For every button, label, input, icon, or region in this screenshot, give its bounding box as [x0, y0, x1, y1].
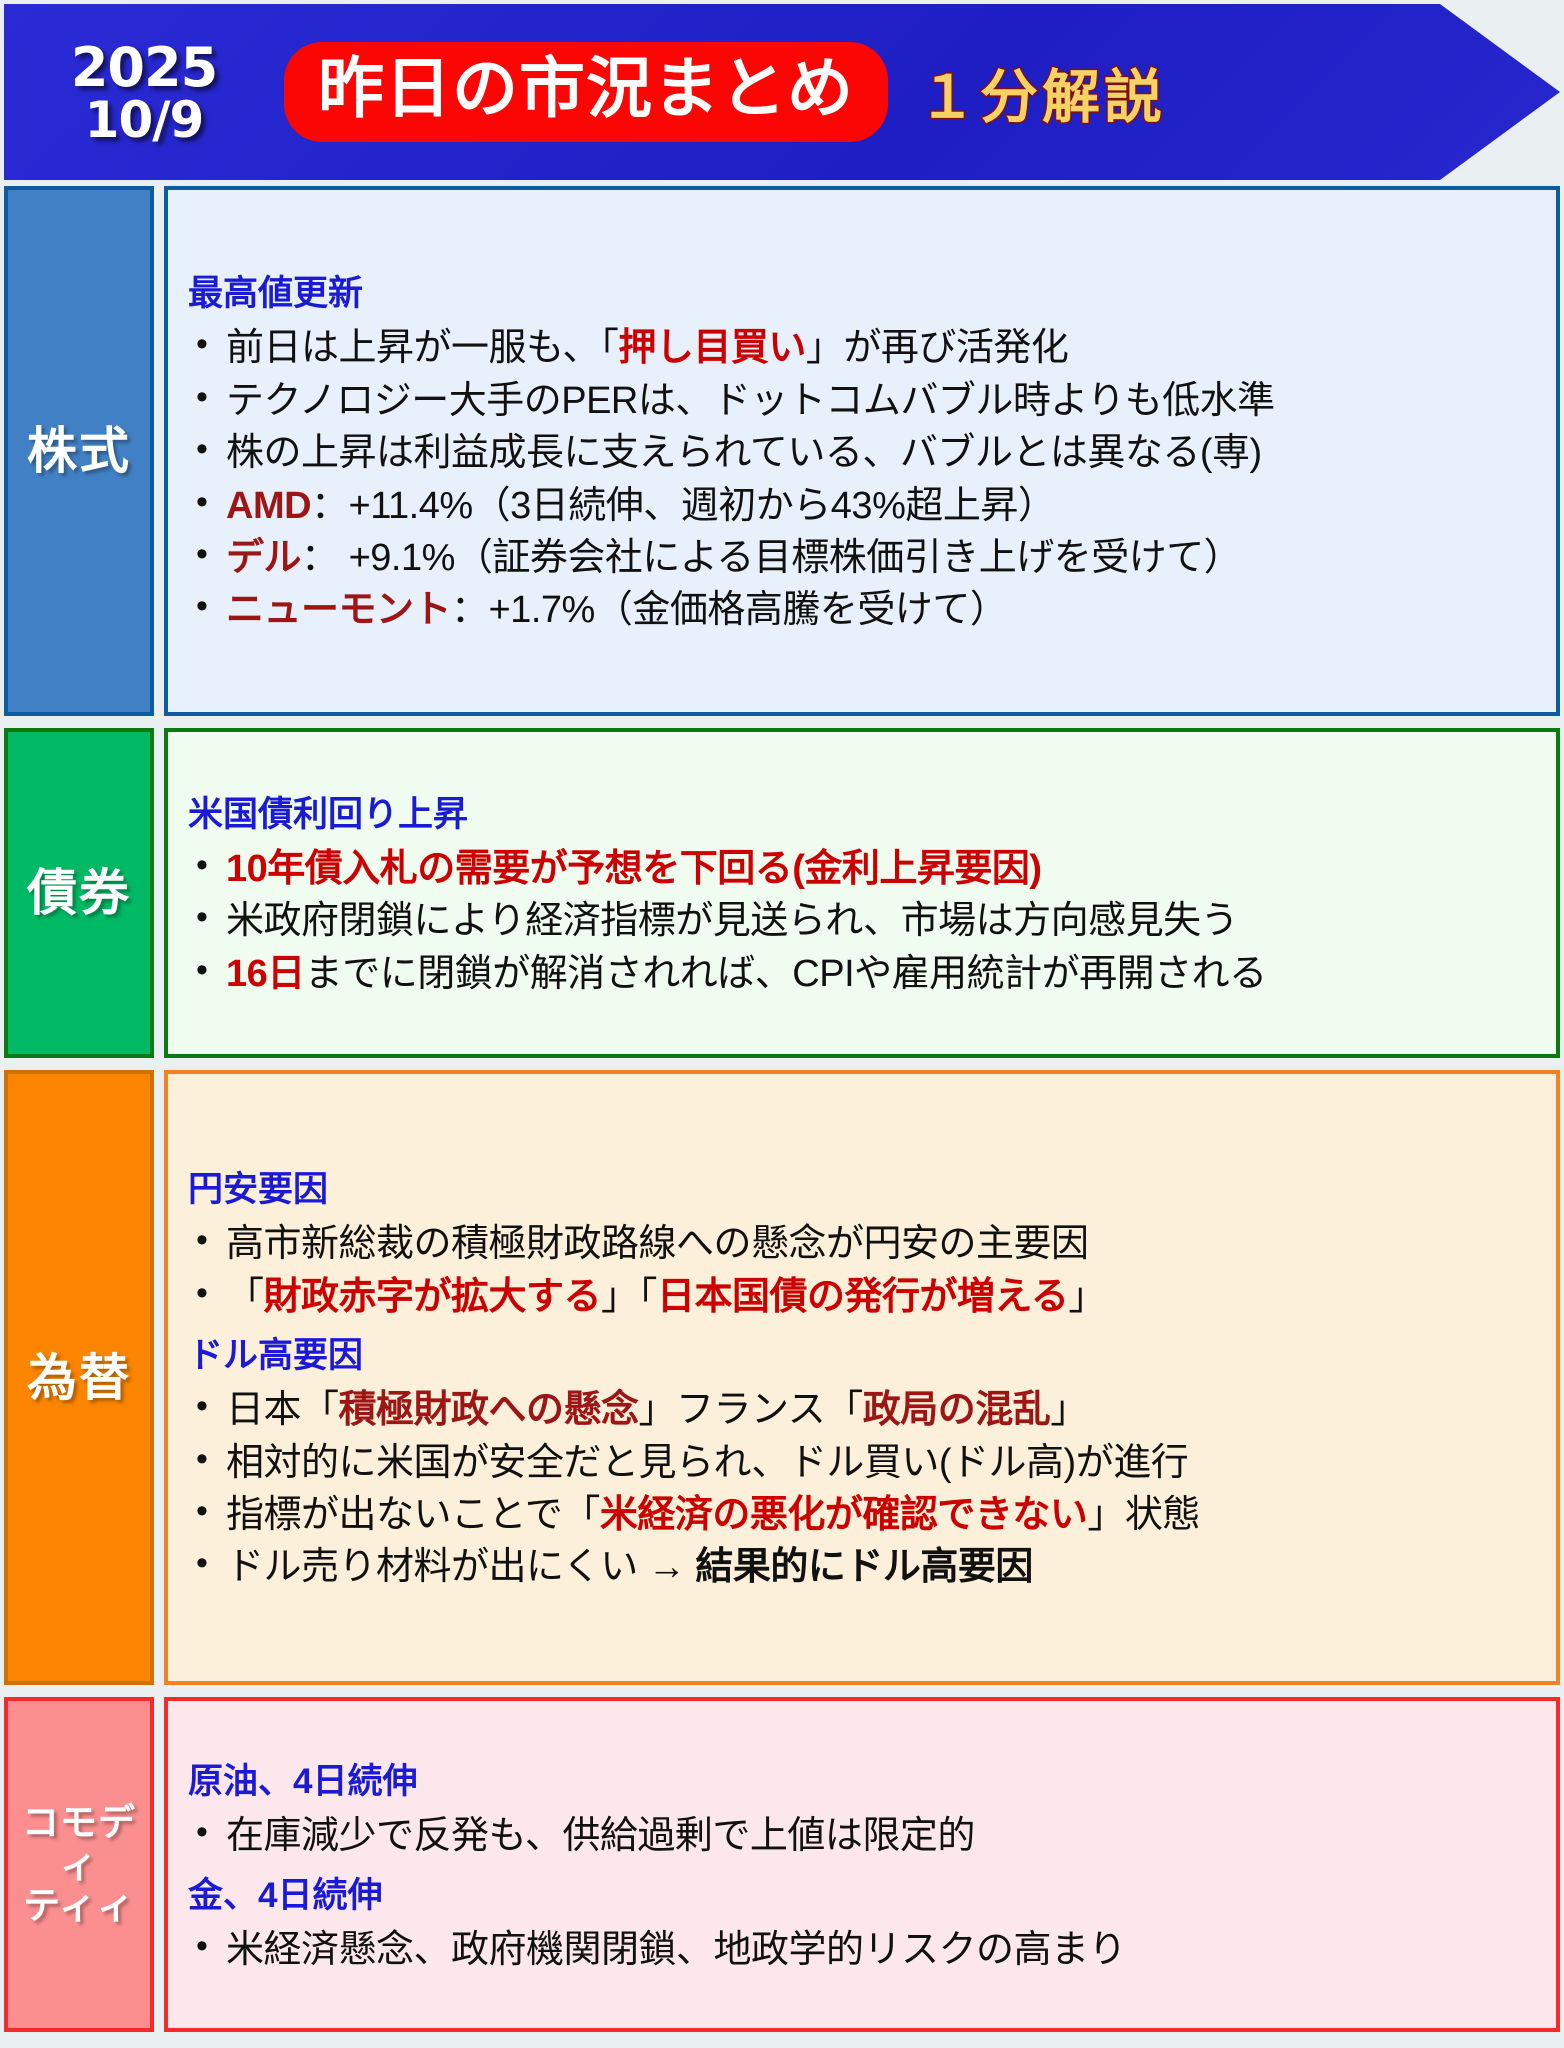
bullet-item: ドル売り材料が出にくい → 結果的にドル高要因 [182, 1541, 1538, 1593]
market-sections: 株式最高値更新前日は上昇が一服も、「押し目買い」が再び活発化テクノロジー大手のP… [0, 186, 1564, 2032]
section-body-comm: 原油、4日続伸在庫減少で反発も、供給過剰で上値は限定的金、4日続伸米経済懸念、政… [164, 1697, 1560, 2032]
block-heading: 最高値更新 [188, 265, 1538, 316]
block-heading: 原油、4日続伸 [188, 1753, 1538, 1804]
section-label-comm: コモディ ティィ [4, 1697, 154, 2032]
bullet-item: 16日までに閉鎖が解消されれば、CPIや雇用統計が再開される [182, 948, 1538, 1000]
emphasis-text: 10年債入札の需要が予想を下回る(金利上昇要因) [226, 848, 1042, 890]
section-fx: 為替円安要因高市新総裁の積極財政路線への懸念が円安の主要因「財政赤字が拡大する」… [4, 1070, 1560, 1685]
bullet-item: ニューモント：+1.7%（金価格高騰を受けて） [182, 584, 1538, 636]
section-body-fx: 円安要因高市新総裁の積極財政路線への懸念が円安の主要因「財政赤字が拡大する」「日… [164, 1070, 1560, 1685]
block-heading: 金、4日続伸 [188, 1867, 1538, 1918]
emphasis-text: 16日 [226, 953, 305, 995]
bullet-item: 米政府閉鎖により経済指標が見送られ、市場は方向感見失う [182, 895, 1538, 947]
emphasis-text: 政局の混乱 [863, 1389, 1051, 1431]
section-label-fx: 為替 [4, 1070, 154, 1685]
section-stock: 株式最高値更新前日は上昇が一服も、「押し目買い」が再び活発化テクノロジー大手のP… [4, 186, 1560, 716]
emphasis-text: 日本国債の発行が増える [657, 1276, 1068, 1318]
bullet-list: 前日は上昇が一服も、「押し目買い」が再び活発化テクノロジー大手のPERは、ドット… [182, 322, 1538, 637]
bullet-list: 10年債入札の需要が予想を下回る(金利上昇要因)米政府閉鎖により経済指標が見送ら… [182, 843, 1538, 1000]
emphasis-text: ニューモント [226, 589, 451, 631]
block-heading: 円安要因 [188, 1161, 1538, 1212]
bullet-item: 指標が出ないことで「米経済の悪化が確認できない」状態 [182, 1489, 1538, 1541]
bullet-item: 高市新総裁の積極財政路線への懸念が円安の主要因 [182, 1218, 1538, 1270]
header-date-year: 2025 [4, 40, 284, 95]
bullet-item: 在庫減少で反発も、供給過剰で上値は限定的 [182, 1810, 1538, 1862]
section-body-bond: 米国債利回り上昇10年債入札の需要が予想を下回る(金利上昇要因)米政府閉鎖により… [164, 728, 1560, 1058]
section-label-stock: 株式 [4, 186, 154, 716]
emphasis-text: デル [226, 537, 301, 579]
bullet-list: 在庫減少で反発も、供給過剰で上値は限定的 [182, 1810, 1538, 1862]
bullet-item: 株の上昇は利益成長に支えられている、バブルとは異なる(専) [182, 427, 1538, 479]
bullet-item: テクノロジー大手のPERは、ドットコムバブル時よりも低水準 [182, 375, 1538, 427]
bullet-item: デル： +9.1%（証券会社による目標株価引き上げを受けて） [182, 532, 1538, 584]
bullet-item: 前日は上昇が一服も、「押し目買い」が再び活発化 [182, 322, 1538, 374]
section-comm: コモディ ティィ原油、4日続伸在庫減少で反発も、供給過剰で上値は限定的金、4日続… [4, 1697, 1560, 2032]
bullet-item: AMD：+11.4%（3日続伸、週初から43%超上昇） [182, 480, 1538, 532]
bullet-list: 日本「積極財政への懸念」フランス「政局の混乱」相対的に米国が安全だと見られ、ドル… [182, 1384, 1538, 1594]
emphasis-text: 積極財政への懸念 [339, 1389, 639, 1431]
bullet-list: 高市新総裁の積極財政路線への懸念が円安の主要因「財政赤字が拡大する」「日本国債の… [182, 1218, 1538, 1323]
header-subtitle: １分解説 [918, 50, 1166, 134]
section-label-bond: 債券 [4, 728, 154, 1058]
bullet-item: 10年債入札の需要が予想を下回る(金利上昇要因) [182, 843, 1538, 895]
section-body-stock: 最高値更新前日は上昇が一服も、「押し目買い」が再び活発化テクノロジー大手のPER… [164, 186, 1560, 716]
block-heading: 米国債利回り上昇 [188, 786, 1538, 837]
bullet-list: 米経済懸念、政府機関閉鎖、地政学的リスクの高まり [182, 1924, 1538, 1976]
header-title: 昨日の市況まとめ [284, 42, 888, 142]
emphasis-text: AMD [226, 485, 311, 527]
bullet-item: 日本「積極財政への懸念」フランス「政局の混乱」 [182, 1384, 1538, 1436]
bullet-item: 相対的に米国が安全だと見られ、ドル買い(ドル高)が進行 [182, 1437, 1538, 1489]
emphasis-text: 結果的にドル高要因 [695, 1546, 1033, 1588]
emphasis-text: 財政赤字が拡大する [264, 1276, 602, 1318]
header-date-day: 10/9 [4, 95, 284, 146]
bullet-item: 米経済懸念、政府機関閉鎖、地政学的リスクの高まり [182, 1924, 1538, 1976]
block-heading: ドル高要因 [188, 1327, 1538, 1378]
header-date: 2025 10/9 [4, 38, 284, 146]
emphasis-text: 米経済の悪化が確認できない [600, 1494, 1088, 1536]
section-bond: 債券米国債利回り上昇10年債入札の需要が予想を下回る(金利上昇要因)米政府閉鎖に… [4, 728, 1560, 1058]
emphasis-text: 押し目買い [618, 327, 806, 369]
header-banner: 2025 10/9 昨日の市況まとめ １分解説 [0, 0, 1564, 186]
bullet-item: 「財政赤字が拡大する」「日本国債の発行が増える」 [182, 1271, 1538, 1323]
header-arrow-shape: 2025 10/9 昨日の市況まとめ １分解説 [4, 4, 1560, 180]
